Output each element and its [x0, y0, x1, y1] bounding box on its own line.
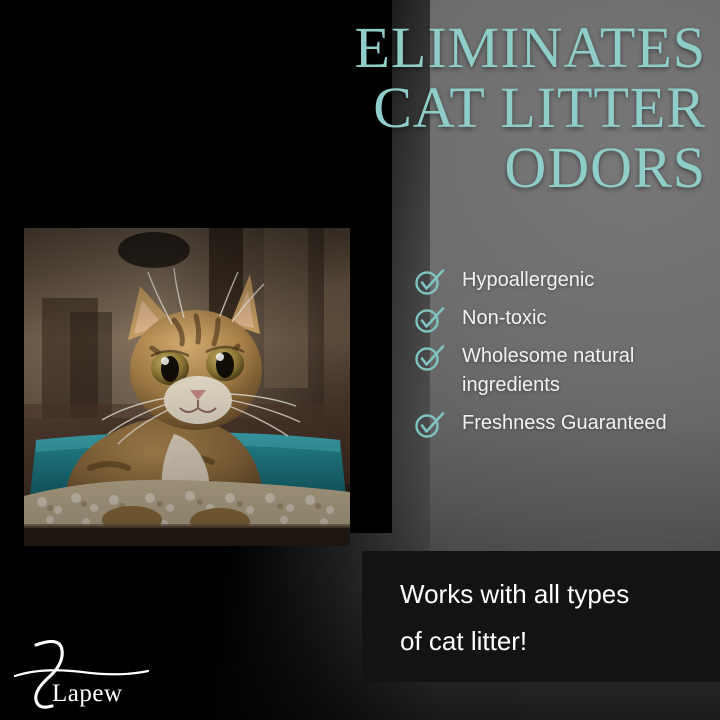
benefit-label: Wholesome natural ingredients — [462, 342, 714, 400]
benefits-list: Hypoallergenic Non-toxic Wholesome natur… — [414, 266, 714, 438]
logo-wordmark: Lapew — [52, 681, 123, 707]
check-circle-icon — [414, 267, 446, 295]
benefit-item: Non-toxic — [414, 304, 714, 333]
check-circle-icon — [414, 343, 446, 371]
callout-text: Works with all types of cat litter! — [400, 571, 700, 665]
benefit-label: Freshness Guaranteed — [462, 409, 667, 438]
headline: ELIMINATES CAT LITTER ODORS — [300, 18, 706, 198]
kitten-photo — [24, 228, 350, 546]
brand-logo: Lapew — [12, 640, 192, 714]
headline-line-2: CAT LITTER — [300, 78, 706, 138]
check-circle-icon — [414, 410, 446, 438]
headline-line-1: ELIMINATES — [300, 18, 706, 78]
benefit-item: Wholesome natural ingredients — [414, 342, 714, 400]
benefit-label: Non-toxic — [462, 304, 546, 333]
callout-box: Works with all types of cat litter! — [362, 551, 720, 682]
benefit-item: Hypoallergenic — [414, 266, 714, 295]
benefit-item: Freshness Guaranteed — [414, 409, 714, 438]
callout-line-1: Works with all types — [400, 571, 700, 618]
check-circle-icon — [414, 305, 446, 333]
poster-canvas: ELIMINATES CAT LITTER ODORS — [0, 0, 720, 720]
callout-line-2: of cat litter! — [400, 618, 700, 665]
benefit-label: Hypoallergenic — [462, 266, 594, 295]
headline-line-3: ODORS — [300, 138, 706, 198]
